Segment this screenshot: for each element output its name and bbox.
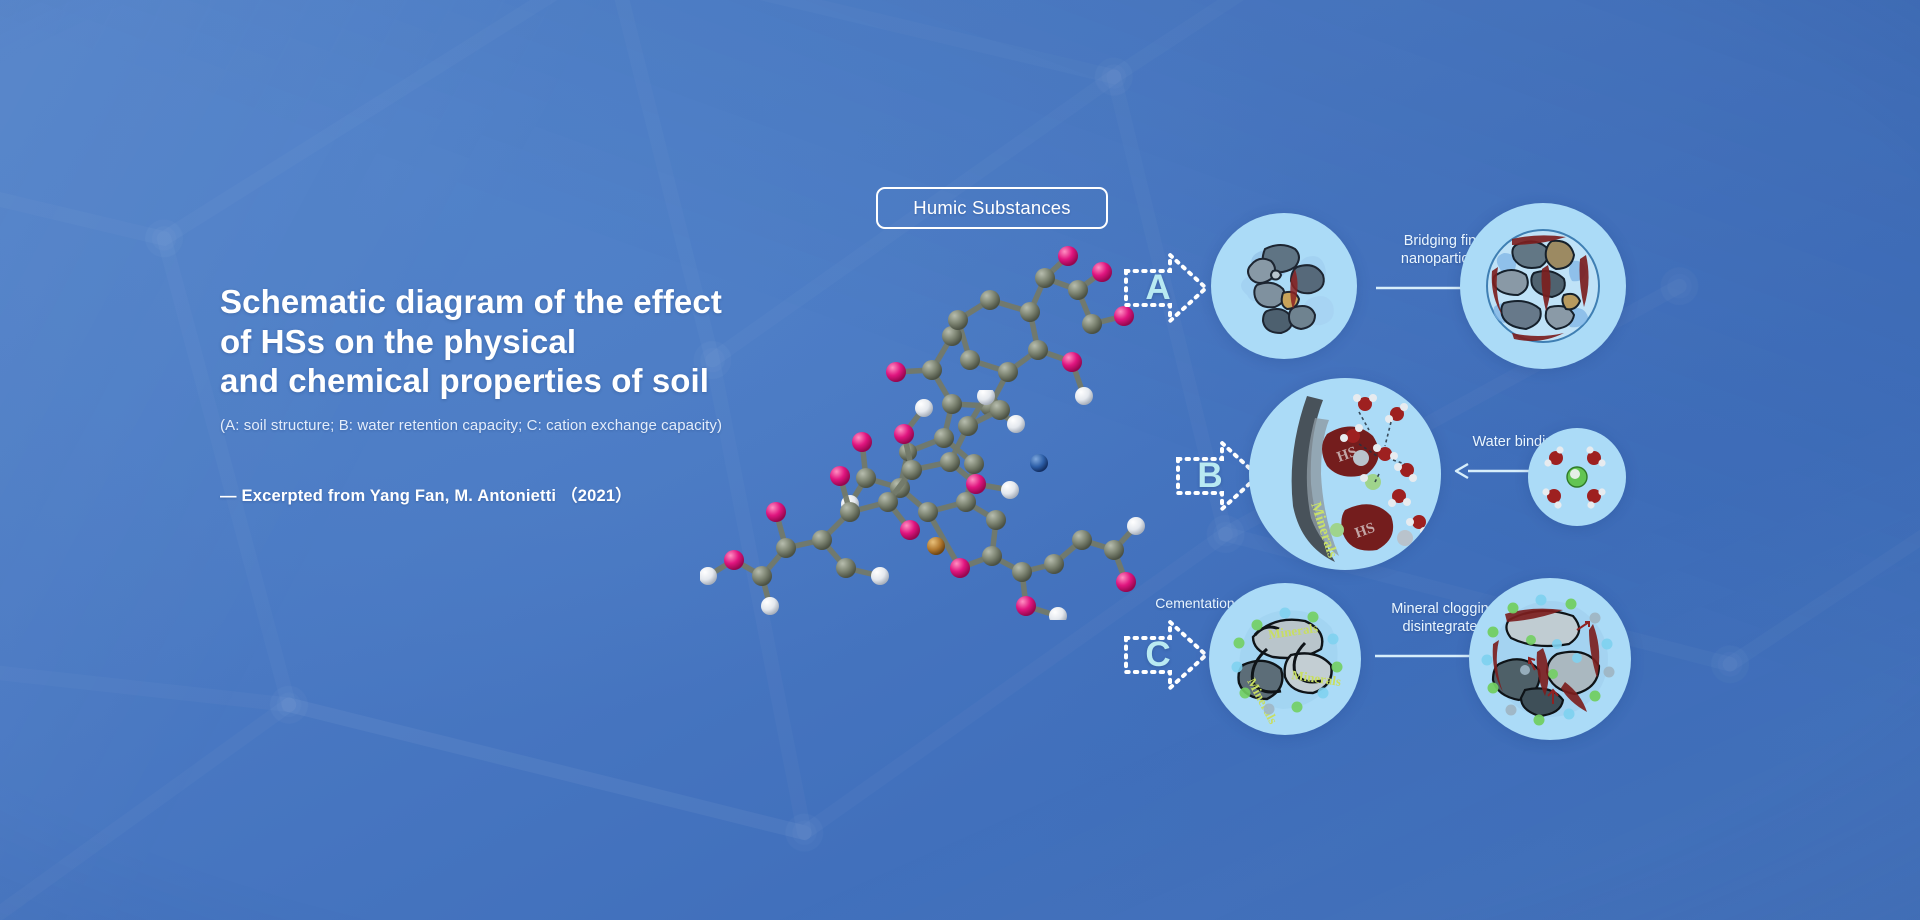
arrow-c-letter: C [1122,616,1210,694]
arrow-a: A [1122,249,1210,327]
arrow-a-letter: A [1122,249,1210,327]
mineral-clogging-icon: Minerals Minerals Minerals [1209,583,1361,735]
soil-aggregate-loose-icon [1211,213,1357,359]
circle-c-after [1469,578,1631,740]
diagram-stage: A Bridging fine nanoparticles [0,0,1920,920]
circle-a-before [1211,213,1357,359]
water-retention-icon: Minerals HS HS [1249,378,1441,570]
circle-b-after [1528,428,1626,526]
soil-aggregate-bound-icon [1460,203,1626,369]
mineral-disintegrated-icon [1469,578,1631,740]
circle-a-after [1460,203,1626,369]
humic-molecule-tail [700,390,1040,620]
circle-b-before: Minerals HS HS [1249,378,1441,570]
hydrated-cation-icon [1528,428,1626,526]
arrow-c: C [1122,616,1210,694]
circle-c-before: Minerals Minerals Minerals [1209,583,1361,735]
